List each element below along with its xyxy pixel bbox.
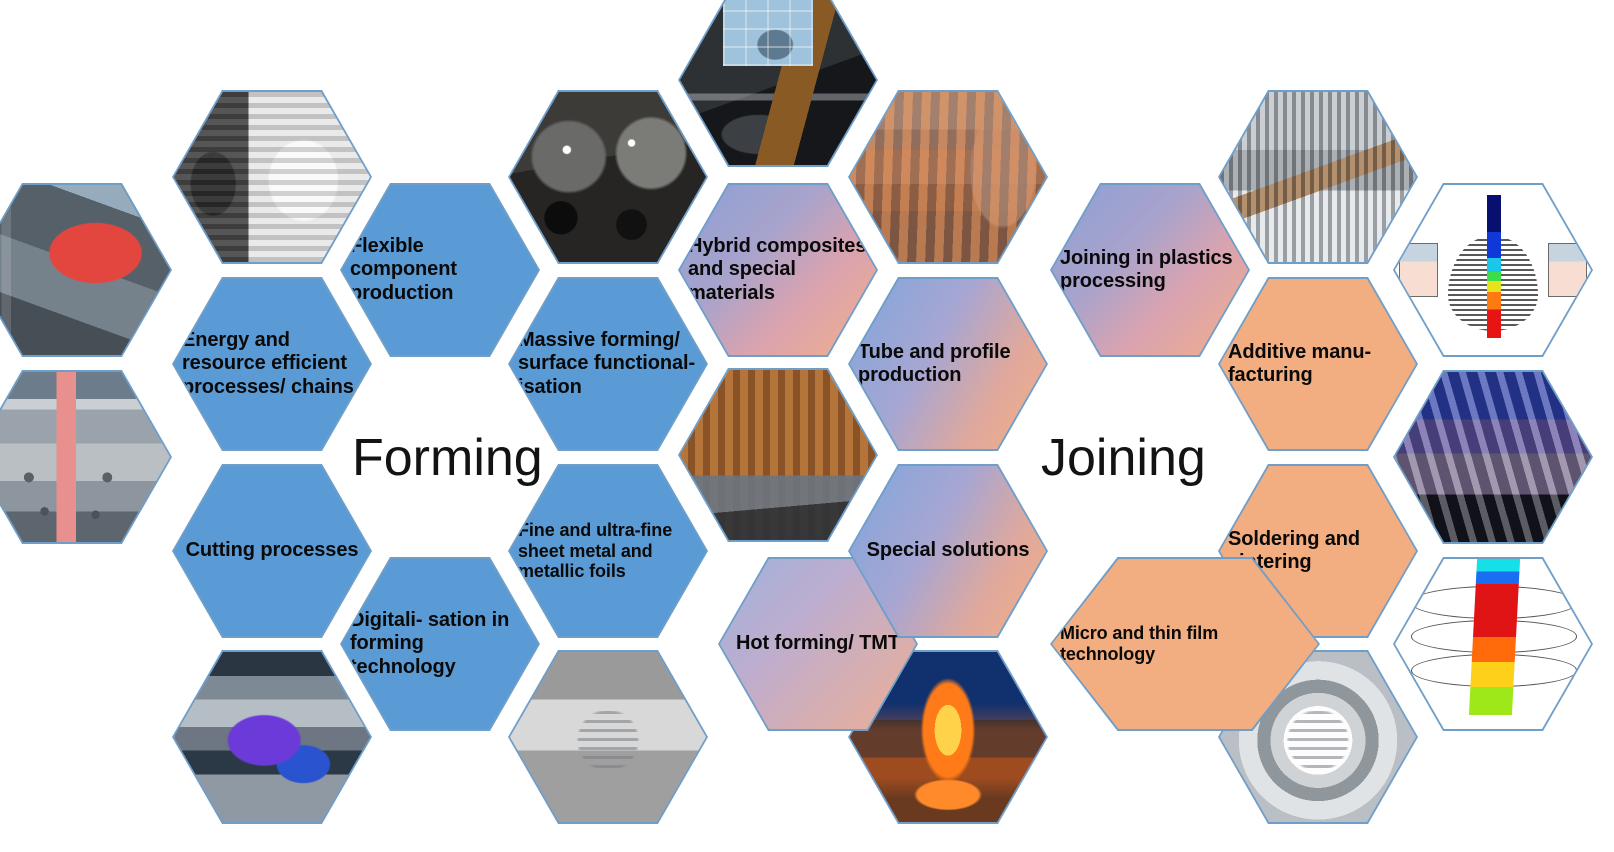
- cylinder-thermal-simulation-plot: [1395, 559, 1591, 729]
- topic-label: Digitali- sation in forming technology: [342, 609, 538, 679]
- hex-fill: [1395, 559, 1591, 729]
- topic-label: Massive forming/ surface functional- isa…: [510, 329, 706, 399]
- forming-tool-photo: [0, 372, 170, 542]
- image-hex-weld-bead-macrograph: [1393, 370, 1593, 544]
- image-hex-cylinder-simulation: [1393, 557, 1593, 731]
- section-title-joining: Joining: [1041, 428, 1206, 488]
- topic-hex-additive-manufacturing[interactable]: Additive manu- facturing: [1218, 277, 1418, 451]
- hex-fill: [0, 185, 170, 355]
- hex-fill: Additive manu- facturing: [1220, 279, 1416, 449]
- hex-fill: Micro and thin film technology: [1052, 559, 1318, 729]
- hex-fill: [1395, 372, 1591, 542]
- hex-fill: [0, 372, 170, 542]
- hex-fill: Massive forming/ surface functional- isa…: [510, 279, 706, 449]
- topic-hex-tube-profile-production[interactable]: Tube and profile production: [848, 277, 1048, 451]
- image-hex-hot-forged-ring: [848, 90, 1048, 264]
- topic-label: Micro and thin film technology: [1052, 623, 1318, 665]
- image-hex-weld-simulation: [1393, 183, 1593, 357]
- hex-fill: Energy and resource efficient processes/…: [174, 279, 370, 449]
- topic-hex-energy-resource-efficient[interactable]: Energy and resource efficient processes/…: [172, 277, 372, 451]
- hex-fill: Tube and profile production: [850, 279, 1046, 449]
- topic-hex-special-solutions[interactable]: Special solutions: [848, 464, 1048, 638]
- topic-label: Energy and resource efficient processes/…: [174, 329, 370, 399]
- hex-fill: [1395, 185, 1591, 355]
- hex-fill: Digitali- sation in forming technology: [342, 559, 538, 729]
- hex-fill: [680, 0, 876, 165]
- induction-heating-photo: [680, 370, 876, 540]
- weld-bead-macrograph-photo: [1395, 372, 1591, 542]
- sim-color-bar: [1487, 195, 1501, 338]
- topic-label: Cutting processes: [178, 539, 367, 562]
- hex-fill: [680, 370, 876, 540]
- hot-forged-ring-photo: [850, 92, 1046, 262]
- press-tooling-photo: [0, 185, 170, 355]
- topic-hex-digitalisation-forming-technology[interactable]: Digitali- sation in forming technology: [340, 557, 540, 731]
- hex-fill: Special solutions: [850, 466, 1046, 636]
- section-title-forming: Forming: [352, 428, 543, 488]
- touchscreen-film-photo: [723, 0, 813, 66]
- hexagon-competence-map: Flexible component production Energy and…: [0, 0, 1614, 852]
- topic-label: Special solutions: [859, 539, 1038, 562]
- topic-label: Additive manu- facturing: [1220, 341, 1416, 387]
- sim-color-band: [1469, 559, 1520, 715]
- hex-fill: Hybrid composites and special materials: [680, 185, 876, 355]
- topic-hex-micro-thin-film-technology[interactable]: Micro and thin film technology: [1050, 557, 1320, 731]
- hex-fill: [850, 92, 1046, 262]
- topic-label: Hybrid composites and special materials: [680, 235, 876, 305]
- image-hex-forming-tool: [0, 370, 172, 544]
- weld-simulation-thermal-plot: [1395, 185, 1591, 355]
- topic-label: Tube and profile production: [850, 341, 1046, 387]
- image-hex-press-tooling: [0, 183, 172, 357]
